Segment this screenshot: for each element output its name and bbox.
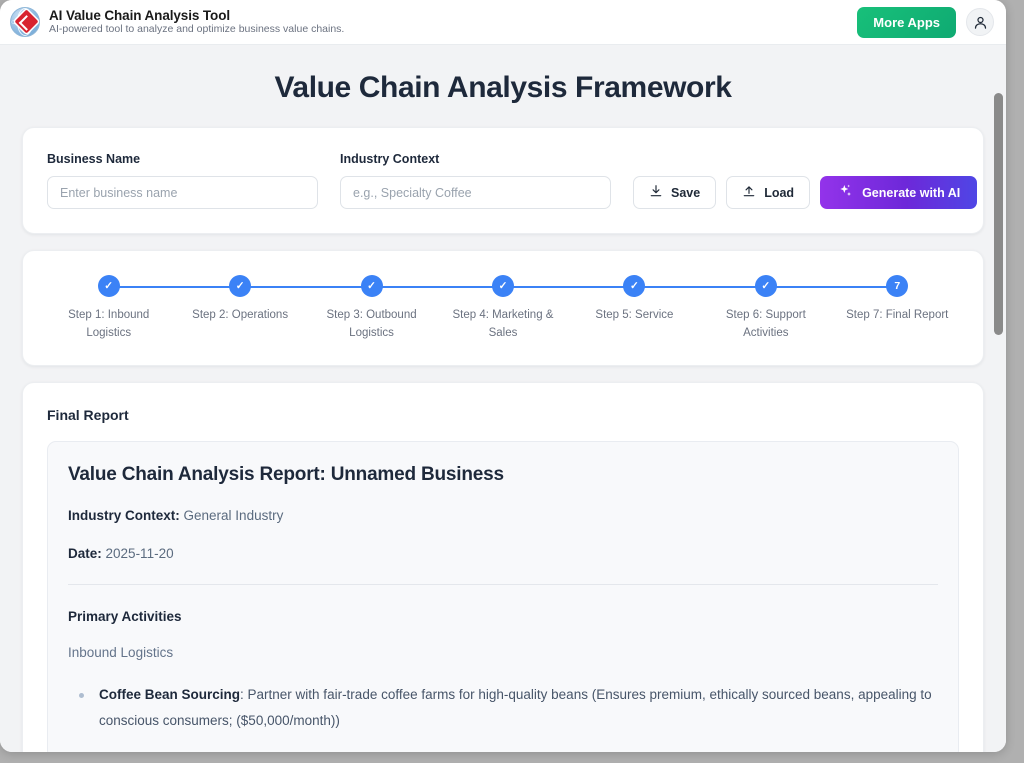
step-label: Step 6: Support Activities <box>710 307 822 343</box>
step-connector-line <box>634 286 765 288</box>
save-button-label: Save <box>671 186 700 200</box>
save-button[interactable]: Save <box>633 176 716 209</box>
list-item: Coffee Bean Sourcing: Partner with fair-… <box>68 682 938 735</box>
business-name-input[interactable] <box>47 176 318 209</box>
stepper-step-5[interactable]: ✓ Step 5: Service <box>569 275 700 325</box>
app-subtitle: AI-powered tool to analyze and optimize … <box>49 24 344 36</box>
vertical-scrollbar[interactable] <box>994 93 1003 745</box>
step-marker: ✓ <box>361 275 383 297</box>
upload-icon <box>742 184 756 201</box>
report-industry-label: Industry Context: <box>68 508 180 523</box>
report-section-title: Primary Activities <box>68 609 938 624</box>
report-body: Value Chain Analysis Report: Unnamed Bus… <box>47 441 959 752</box>
step-connector-line <box>766 286 897 288</box>
step-marker: ✓ <box>755 275 777 297</box>
report-title: Value Chain Analysis Report: Unnamed Bus… <box>68 464 938 486</box>
report-subsection-title: Inbound Logistics <box>68 645 938 660</box>
page-title: Value Chain Analysis Framework <box>22 45 984 127</box>
stepper-step-2[interactable]: ✓ Step 2: Operations <box>174 275 305 325</box>
page-scroll-area: Value Chain Analysis Framework Business … <box>0 45 1006 752</box>
stepper-step-1[interactable]: ✓ Step 1: Inbound Logistics <box>43 275 174 343</box>
report-divider <box>68 584 938 585</box>
app-title: AI Value Chain Analysis Tool <box>49 8 344 23</box>
header-actions: More Apps <box>857 7 994 38</box>
step-connector-line <box>240 286 371 288</box>
step-label: Step 4: Marketing & Sales <box>447 307 559 343</box>
load-button-label: Load <box>764 186 794 200</box>
globe-diamond-logo-icon <box>10 7 40 37</box>
step-marker: ✓ <box>229 275 251 297</box>
business-name-label: Business Name <box>47 152 318 166</box>
more-apps-button[interactable]: More Apps <box>857 7 956 38</box>
business-name-group: Business Name <box>47 152 318 209</box>
step-label: Step 7: Final Report <box>846 307 948 325</box>
user-icon[interactable] <box>966 8 994 36</box>
step-connector-line <box>372 286 503 288</box>
report-date-line: Date: 2025-11-20 <box>68 546 938 561</box>
download-icon <box>649 184 663 201</box>
step-label: Step 2: Operations <box>192 307 288 325</box>
industry-context-group: Industry Context <box>340 152 611 209</box>
industry-context-label: Industry Context <box>340 152 611 166</box>
step-connector-line <box>109 286 240 288</box>
scrollbar-thumb[interactable] <box>994 93 1003 335</box>
step-label: Step 5: Service <box>595 307 673 325</box>
report-date-value: 2025-11-20 <box>106 546 174 561</box>
step-marker: ✓ <box>98 275 120 297</box>
stepper-card: ✓ Step 1: Inbound Logistics ✓ Step 2: Op… <box>22 250 984 366</box>
sparkles-icon <box>837 183 853 202</box>
load-button[interactable]: Load <box>726 176 810 209</box>
step-label: Step 1: Inbound Logistics <box>53 307 165 343</box>
generate-button-label: Generate with AI <box>862 186 960 200</box>
brand[interactable]: AI Value Chain Analysis Tool AI-powered … <box>10 7 344 37</box>
step-marker: 7 <box>886 275 908 297</box>
step-connector-line <box>503 286 634 288</box>
report-date-label: Date: <box>68 546 102 561</box>
form-action-buttons: Save Load <box>633 176 977 209</box>
report-industry-line: Industry Context: General Industry <box>68 508 938 523</box>
bullet-term: Coffee Bean Sourcing <box>99 687 240 702</box>
industry-context-input[interactable] <box>340 176 611 209</box>
report-section-heading: Final Report <box>47 407 959 423</box>
step-label: Step 3: Outbound Logistics <box>316 307 428 343</box>
app-window: AI Value Chain Analysis Tool AI-powered … <box>0 0 1006 752</box>
stepper-step-7[interactable]: 7 Step 7: Final Report <box>832 275 963 325</box>
generate-with-ai-button[interactable]: Generate with AI <box>820 176 977 209</box>
app-header: AI Value Chain Analysis Tool AI-powered … <box>0 0 1006 45</box>
report-bullet-list: Coffee Bean Sourcing: Partner with fair-… <box>68 682 938 735</box>
progress-stepper: ✓ Step 1: Inbound Logistics ✓ Step 2: Op… <box>43 275 963 343</box>
step-marker: ✓ <box>492 275 514 297</box>
step-marker: ✓ <box>623 275 645 297</box>
report-industry-value: General Industry <box>184 508 284 523</box>
final-report-card: Final Report Value Chain Analysis Report… <box>22 382 984 752</box>
input-form-card: Business Name Industry Context Sav <box>22 127 984 234</box>
